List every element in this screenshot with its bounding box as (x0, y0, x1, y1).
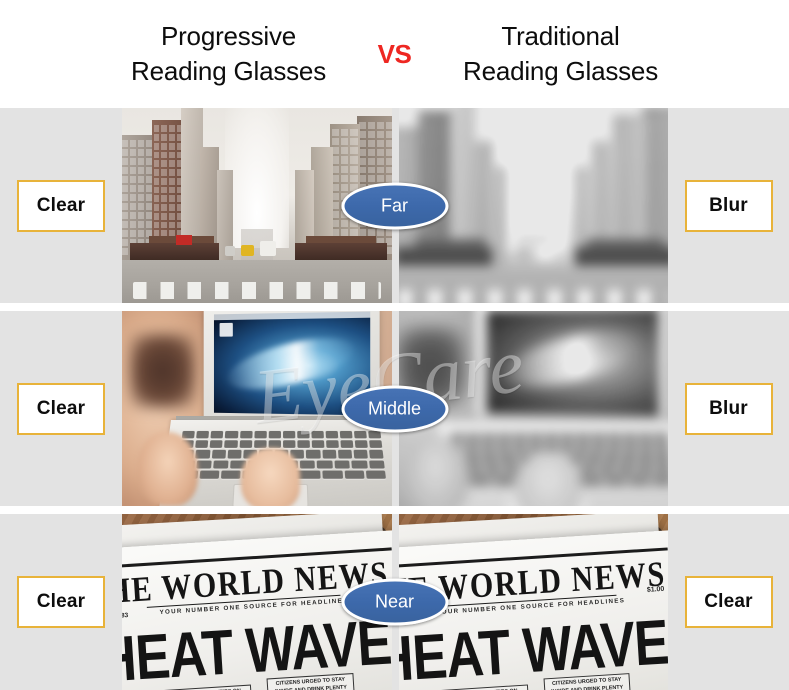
comparison-row-far: Clear (0, 108, 789, 303)
left-hand (138, 432, 197, 506)
right-hand (241, 448, 300, 507)
taxi (516, 248, 531, 261)
menu-bar (486, 311, 658, 312)
progressive-title-line1: Progressive (94, 19, 364, 54)
status-badge-middle-right: Blur (685, 383, 773, 435)
near-left-status-panel: Clear (0, 514, 122, 690)
traditional-title-line2: Reading Glasses (426, 54, 696, 89)
comparison-row-near: Clear HE WORLD NEWS (0, 514, 789, 690)
right-hand (516, 451, 581, 506)
sky-glow (225, 108, 290, 248)
car (225, 246, 236, 256)
person-hair (130, 334, 195, 408)
progressive-title: Progressive Reading Glasses (94, 19, 364, 88)
galaxy-wallpaper (223, 327, 360, 398)
status-badge-near-right: Clear (685, 576, 773, 628)
far-right-status-panel: Blur (668, 108, 789, 303)
awning (306, 236, 376, 243)
awning (587, 239, 664, 246)
van (260, 241, 276, 257)
middle-left-status-panel: Clear (0, 311, 122, 506)
status-badge-middle-left: Clear (17, 383, 105, 435)
status-badge-near-left: Clear (17, 576, 105, 628)
shopfront (130, 243, 219, 261)
shopfront (575, 246, 668, 265)
crosswalk (399, 289, 668, 303)
menu-bar (214, 312, 371, 320)
newspaper-price: $1.00 (647, 586, 665, 594)
traditional-title-line1: Traditional (426, 19, 696, 54)
middle-right-status-panel: Blur (668, 311, 789, 506)
crosswalk (133, 282, 381, 300)
header-titles: Progressive Reading Glasses VS Tradition… (0, 0, 789, 108)
comparison-grid: Clear (0, 108, 789, 690)
status-badge-far-right: Blur (685, 180, 773, 232)
galaxy-wallpaper (496, 319, 647, 397)
distance-badge-middle: Middle (341, 385, 448, 432)
laptop-screen-display (486, 311, 658, 416)
far-left-status-panel: Clear (0, 108, 122, 303)
awning (415, 239, 486, 246)
webcam-icon (287, 311, 291, 312)
shopfront (295, 243, 387, 261)
laptop-screen-bezel (475, 311, 668, 430)
progressive-title-line2: Reading Glasses (94, 54, 364, 89)
vs-label: VS (372, 39, 418, 70)
desktop-icon (220, 323, 233, 336)
distance-badge-near: Near (341, 579, 448, 626)
van (536, 244, 554, 261)
near-right-status-panel: Clear (668, 514, 789, 690)
newspaper-established: # 1883 (122, 612, 128, 620)
traditional-title: Traditional Reading Glasses (426, 19, 696, 88)
taxi (241, 245, 255, 257)
distance-badge-far: Far (341, 182, 448, 229)
status-badge-far-left: Clear (17, 180, 105, 232)
red-sign (176, 235, 192, 245)
comparison-row-middle: Clear MacBook Air (0, 311, 789, 506)
shopfront (399, 246, 492, 265)
